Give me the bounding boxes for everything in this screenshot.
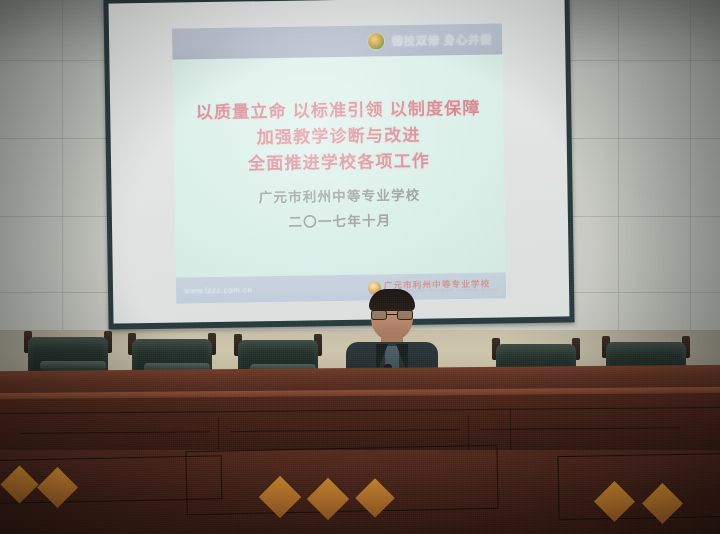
table-panel-line: [230, 429, 460, 432]
slide-header-band: 德技双修 身心并健: [172, 23, 502, 59]
speaker-hair: [369, 289, 415, 311]
eyeglass-lens: [371, 310, 387, 320]
projection-screen-surface: 德技双修 身心并健 以质量立命 以标准引领 以制度保障 加强教学诊断与改进 全面…: [109, 0, 570, 324]
slide-date: 二〇一七年十月: [175, 206, 505, 236]
presentation-slide: 德技双修 身心并健 以质量立命 以标准引领 以制度保障 加强教学诊断与改进 全面…: [172, 23, 506, 303]
slide-footer-url: www.lzzz.com.cn: [184, 285, 253, 295]
slide-title-line-1: 以质量立命 以标准引领 以制度保障: [173, 95, 503, 126]
slide-motto: 德技双修 身心并健: [391, 31, 492, 49]
slide-title-block: 以质量立命 以标准引领 以制度保障 加强教学诊断与改进 全面推进学校各项工作: [173, 95, 504, 178]
eyeglass-lens: [397, 310, 413, 320]
conference-room-photo: 德技双修 身心并健 以质量立命 以标准引领 以制度保障 加强教学诊断与改进 全面…: [0, 0, 720, 534]
carpet-border-right: [557, 452, 720, 520]
table-panel-line: [20, 431, 210, 434]
eyeglass-bridge: [387, 314, 397, 315]
projection-screen-frame: 德技双修 身心并健 以质量立命 以标准引领 以制度保障 加强教学诊断与改进 全面…: [103, 0, 574, 330]
school-emblem-icon: [367, 32, 385, 50]
table-panel-divider: [510, 409, 511, 455]
table-panel-line: [0, 407, 720, 414]
eyeglasses-icon: [371, 310, 413, 320]
slide-title-line-3: 全面推进学校各项工作: [174, 147, 504, 178]
slide-subtitle-block: 广元市利州中等专业学校 二〇一七年十月: [174, 181, 505, 236]
carpet: [0, 450, 720, 534]
